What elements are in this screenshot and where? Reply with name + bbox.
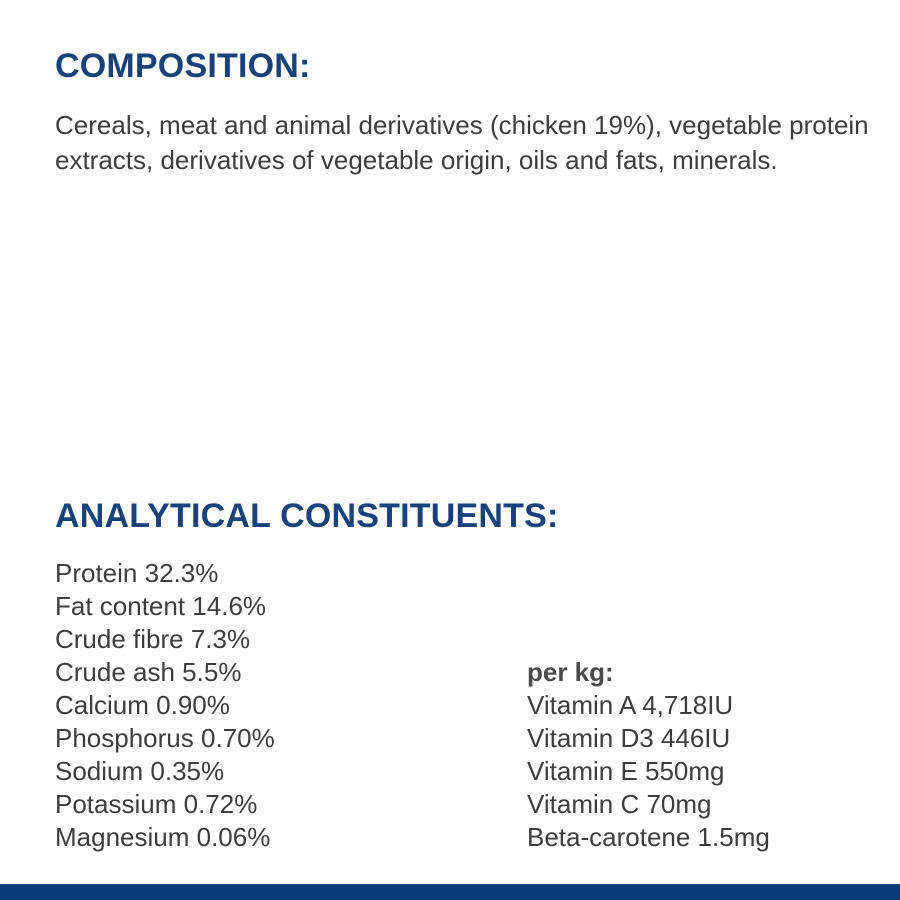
vitamin-row: Vitamin E 550mg xyxy=(527,755,770,788)
vitamin-row: Beta-carotene 1.5mg xyxy=(527,821,770,854)
composition-text: Cereals, meat and animal derivatives (ch… xyxy=(55,108,875,178)
analytical-constituents-body: Protein 32.3% Fat content 14.6% Crude fi… xyxy=(0,557,900,857)
vitamin-row: Vitamin A 4,718IU xyxy=(527,689,770,722)
constituents-left-column: Protein 32.3% Fat content 14.6% Crude fi… xyxy=(55,557,275,854)
vitamin-row: Vitamin C 70mg xyxy=(527,788,770,821)
composition-heading: COMPOSITION: xyxy=(55,49,311,83)
analytical-constituents-heading: ANALYTICAL CONSTITUENTS: xyxy=(55,499,558,533)
bottom-accent-bar xyxy=(0,884,900,900)
nutrient-row: Crude fibre 7.3% xyxy=(55,623,275,656)
nutrient-row: Crude ash 5.5% xyxy=(55,656,275,689)
constituents-right-column: . . . per kg: Vitamin A 4,718IU Vitamin … xyxy=(527,557,770,854)
nutrient-row: Protein 32.3% xyxy=(55,557,275,590)
nutrient-row: Sodium 0.35% xyxy=(55,755,275,788)
per-kg-label: per kg: xyxy=(527,656,770,689)
nutrition-label-page: COMPOSITION: Cereals, meat and animal de… xyxy=(0,0,900,900)
nutrient-row: Potassium 0.72% xyxy=(55,788,275,821)
nutrient-row: Magnesium 0.06% xyxy=(55,821,275,854)
vitamin-row: Vitamin D3 446IU xyxy=(527,722,770,755)
nutrient-row: Calcium 0.90% xyxy=(55,689,275,722)
nutrient-row: Fat content 14.6% xyxy=(55,590,275,623)
nutrient-row: Phosphorus 0.70% xyxy=(55,722,275,755)
